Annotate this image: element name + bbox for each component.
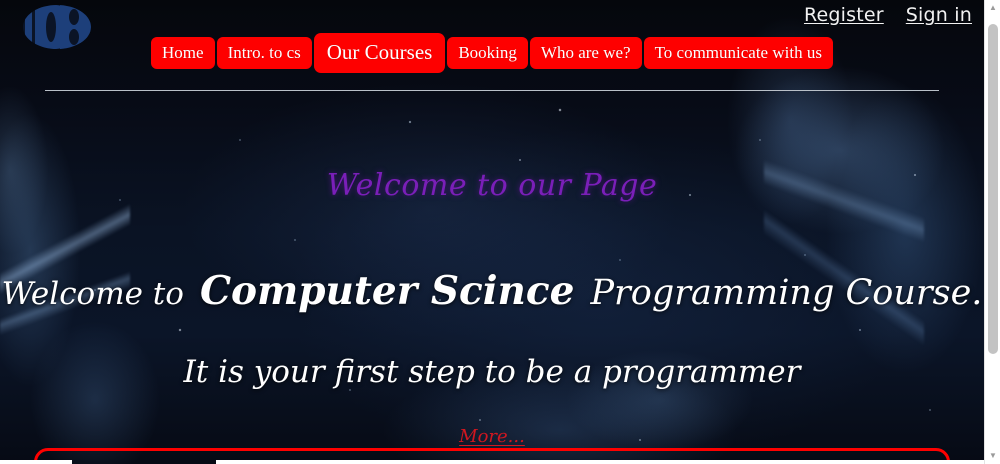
hero-headline: Welcome to Computer Scince Programming C… [0,268,984,314]
headline-welcome-to: Welcome to [2,276,184,312]
auth-links: Register Sign in [804,4,972,26]
nav-item-who-are-we[interactable]: Who are we? [530,37,642,69]
bottom-strip-gap [72,460,216,464]
main-navigation: Home Intro. to cs Our Courses Booking Wh… [0,33,984,73]
headline-programming-course: Programming Course. [590,273,982,313]
browser-page: Register Sign in Home Intro. to cs Our C… [0,0,1000,464]
nav-item-intro-to-cs[interactable]: Intro. to cs [217,37,312,69]
nav-item-to-communicate[interactable]: To communicate with us [644,37,833,69]
bottom-strip-left [0,460,72,464]
bottom-strip-right [216,460,984,464]
header-divider [45,90,939,91]
site-header: Register Sign in Home Intro. to cs Our C… [0,0,984,96]
scroll-down-icon[interactable]: ▼ [985,448,1000,464]
scroll-up-icon[interactable]: ▲ [985,0,1000,16]
nav-item-our-courses[interactable]: Our Courses [314,33,446,73]
nav-item-home[interactable]: Home [151,37,215,69]
signin-link[interactable]: Sign in [906,4,972,26]
headline-computer-scince: Computer Scince [200,268,575,314]
scrollbar-thumb[interactable] [988,24,998,354]
more-link[interactable]: More... [0,426,984,447]
register-link[interactable]: Register [804,4,884,26]
bottom-page-strip [0,460,984,464]
hero-section: Welcome to our Page Welcome to Computer … [0,96,984,464]
hero-subline: It is your first step to be a programmer [0,354,984,390]
nav-item-booking[interactable]: Booking [447,37,528,69]
welcome-tagline: Welcome to our Page [0,168,984,203]
vertical-scrollbar[interactable]: ▲ ▼ [984,0,1000,464]
